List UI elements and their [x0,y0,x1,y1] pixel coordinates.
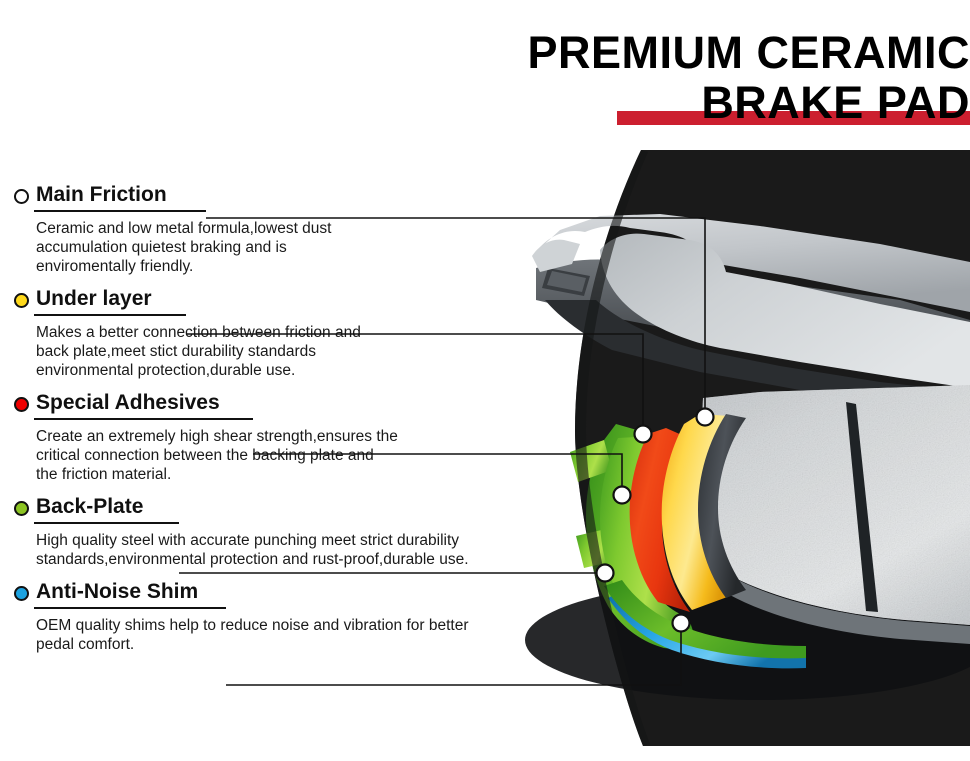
page-title: PREMIUM CERAMIC BRAKE PAD [370,28,970,128]
feature-title: Special Adhesives [36,390,220,416]
feature-description: Create an extremely high shear strength,… [36,427,640,484]
bullet-back-plate-icon [14,501,29,516]
feature-title: Under layer [36,286,152,312]
feature-title: Anti-Noise Shim [36,579,198,605]
feature-title-rule [34,418,253,420]
feature-title: Back-Plate [36,494,143,520]
title-line-2-wrapper: BRAKE PAD [370,78,970,128]
feature-head: Special Adhesives [0,390,640,420]
feature-title-rule [34,522,179,524]
infographic-page: PREMIUM CERAMIC BRAKE PAD Main Friction … [0,0,970,761]
title-line-1: PREMIUM CERAMIC [370,28,970,78]
bullet-special-adhesives-icon [14,397,29,412]
bullet-under-layer-icon [14,293,29,308]
feature-head: Main Friction [0,182,640,212]
feature-list: Main Friction Ceramic and low metal form… [0,182,640,664]
bullet-anti-noise-shim-icon [14,586,29,601]
feature-description: OEM quality shims help to reduce noise a… [36,616,640,654]
feature-title: Main Friction [36,182,167,208]
feature-item-under-layer: Under layer Makes a better connection be… [0,286,640,380]
feature-title-rule [34,314,186,316]
feature-head: Back-Plate [0,494,640,524]
feature-item-back-plate: Back-Plate High quality steel with accur… [0,494,640,569]
feature-item-anti-noise-shim: Anti-Noise Shim OEM quality shims help t… [0,579,640,654]
feature-item-special-adhesives: Special Adhesives Create an extremely hi… [0,390,640,484]
feature-head: Under layer [0,286,640,316]
feature-description: Makes a better connection between fricti… [36,323,640,380]
feature-description: Ceramic and low metal formula,lowest dus… [36,219,640,276]
feature-description: High quality steel with accurate punchin… [36,531,640,569]
feature-title-rule [34,607,226,609]
bullet-main-friction-icon [14,189,29,204]
feature-item-main-friction: Main Friction Ceramic and low metal form… [0,182,640,276]
feature-title-rule [34,210,206,212]
feature-head: Anti-Noise Shim [0,579,640,609]
title-line-2: BRAKE PAD [370,78,970,128]
